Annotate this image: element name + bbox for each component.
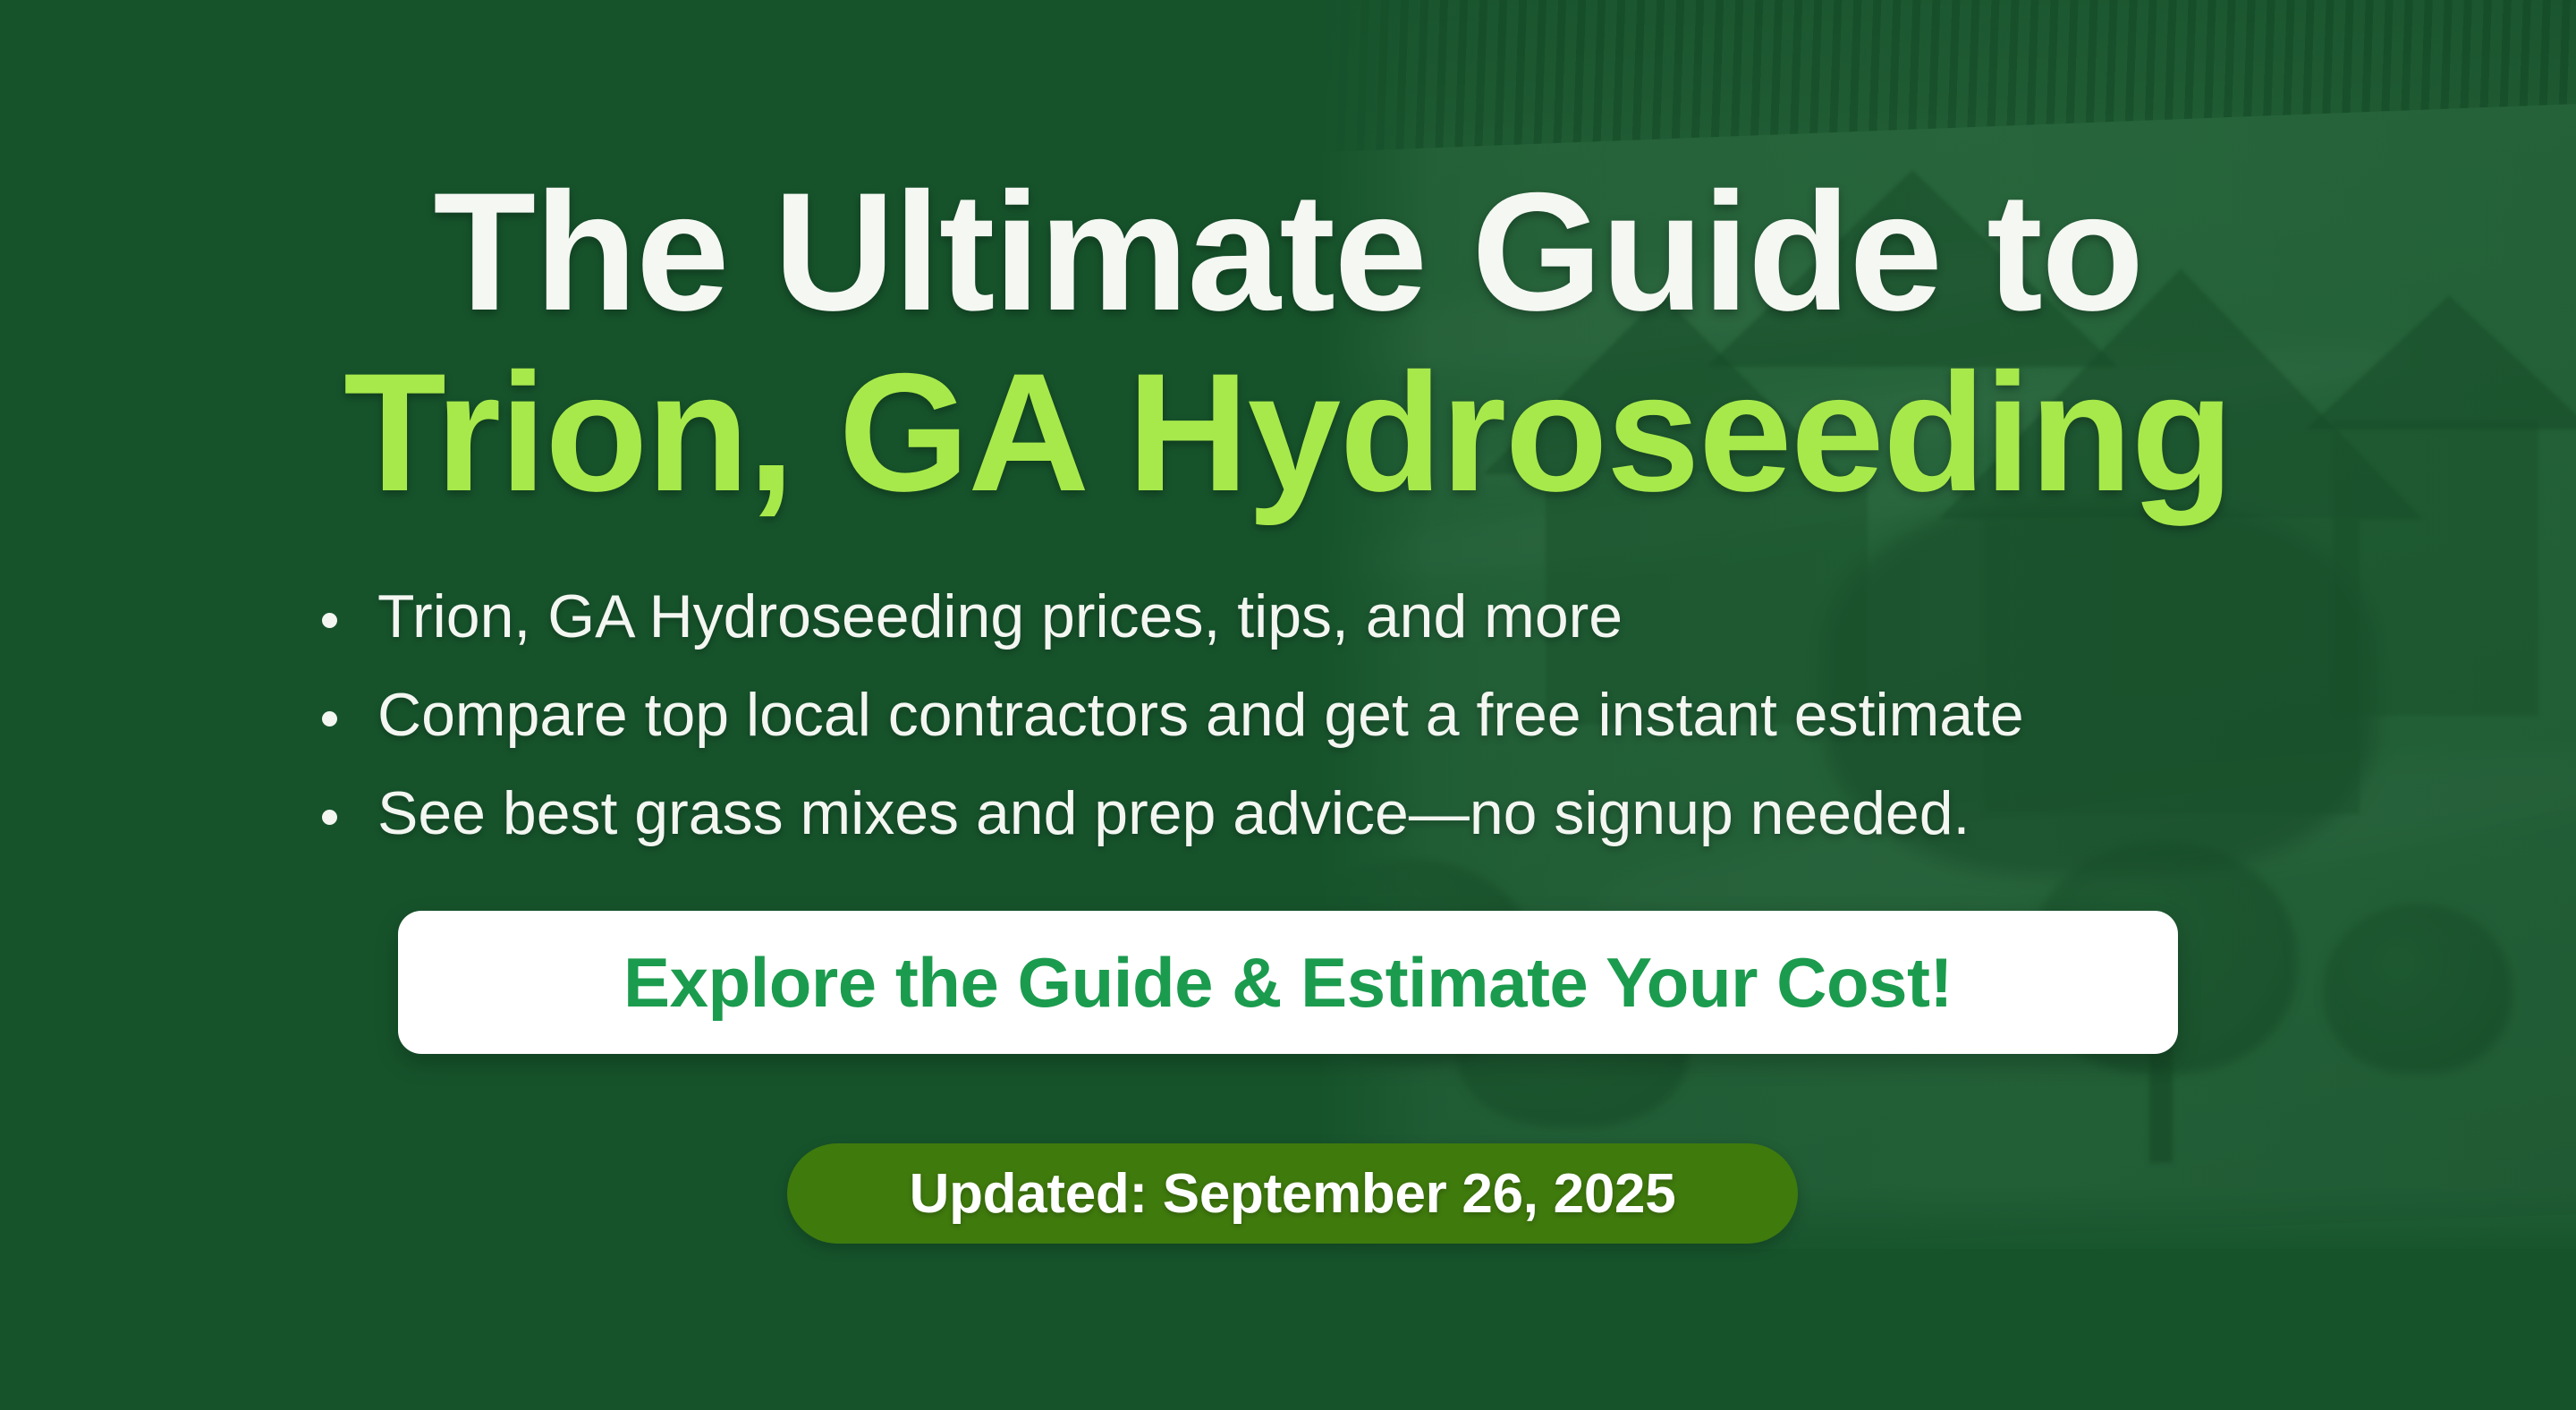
- list-item: See best grass mixes and prep advice—no …: [315, 783, 2283, 844]
- last-updated-badge: Updated: September 26, 2025: [787, 1143, 1798, 1244]
- list-item-label: Compare top local contractors and get a …: [377, 681, 2024, 749]
- list-item-label: Trion, GA Hydroseeding prices, tips, and…: [377, 582, 1623, 650]
- list-item: Trion, GA Hydroseeding prices, tips, and…: [315, 586, 2283, 647]
- bullet-dot-icon: [322, 711, 337, 726]
- last-updated-label: Updated: September 26, 2025: [910, 1162, 1676, 1226]
- bullet-dot-icon: [322, 613, 337, 628]
- headline-line-primary: The Ultimate Guide to: [0, 166, 2576, 338]
- hero-banner: The Ultimate Guide to Trion, GA Hydrosee…: [0, 0, 2576, 1410]
- bullet-dot-icon: [322, 810, 337, 825]
- page-title: The Ultimate Guide to Trion, GA Hydrosee…: [0, 166, 2576, 519]
- list-item-label: See best grass mixes and prep advice—no …: [377, 779, 1970, 847]
- headline-line-accent: Trion, GA Hydroseeding: [0, 347, 2576, 519]
- explore-guide-cta-button[interactable]: Explore the Guide & Estimate Your Cost!: [398, 911, 2178, 1054]
- cta-button-label: Explore the Guide & Estimate Your Cost!: [623, 942, 1953, 1024]
- list-item: Compare top local contractors and get a …: [315, 684, 2283, 745]
- hero-content: The Ultimate Guide to Trion, GA Hydrosee…: [0, 0, 2576, 1410]
- benefit-list: Trion, GA Hydroseeding prices, tips, and…: [315, 586, 2283, 881]
